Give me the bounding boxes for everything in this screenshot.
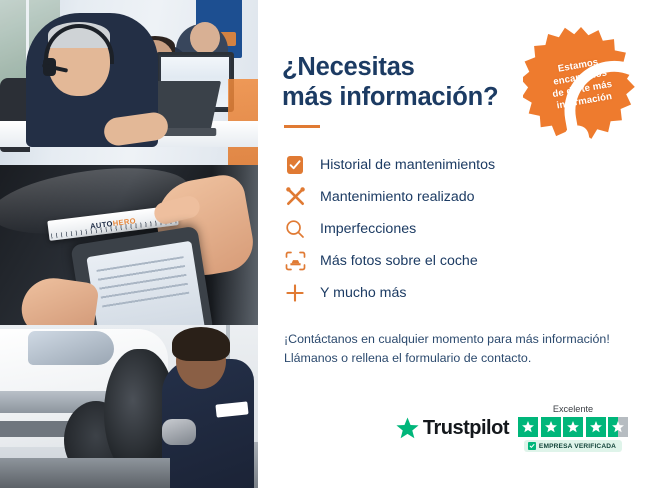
feature-item-imperfections: Imperfecciones	[284, 213, 628, 245]
feature-label: Más fotos sobre el coche	[320, 253, 478, 269]
feature-item-much-more: Y mucho más	[284, 277, 628, 309]
trustpilot-wordmark: Trustpilot	[423, 417, 509, 440]
trustpilot-rating-block: Excelente EMPRESA VERIFICADA	[518, 404, 628, 452]
feature-label: Imperfecciones	[320, 221, 416, 237]
feature-item-maintenance-done: Mantenimiento realizado	[284, 181, 628, 213]
car-headlight	[28, 331, 114, 365]
photo-autohero-ruler-inspection: AUTOHERO	[0, 165, 258, 325]
mechanic-glove	[162, 419, 196, 445]
star-filled	[586, 417, 606, 437]
verified-business-badge: EMPRESA VERIFICADA	[524, 440, 622, 452]
plus-icon	[284, 282, 306, 304]
tablet-screen	[86, 241, 205, 325]
photo-collage: AUTOHERO	[0, 0, 258, 488]
contact-text: ¡Contáctanos en cualquier momento para m…	[284, 330, 628, 368]
feature-label: Y mucho más	[320, 285, 406, 301]
feature-label: Historial de mantenimientos	[320, 157, 495, 173]
background-colleague-2-head	[190, 22, 220, 54]
feature-label: Mantenimiento realizado	[320, 189, 475, 205]
magnifier-icon	[284, 218, 306, 240]
title-underline-rule	[284, 125, 320, 128]
star-half	[608, 417, 628, 437]
verified-business-label: EMPRESA VERIFICADA	[539, 443, 616, 450]
ruler-brand-text: AUTOHERO	[90, 216, 137, 231]
star-filled	[541, 417, 561, 437]
trustpilot-logo: Trustpilot	[395, 416, 509, 441]
car-lift-platform	[0, 458, 170, 488]
verified-check-icon	[528, 442, 536, 450]
help-badge: Estamos encantados de darte más informac…	[523, 25, 639, 141]
star-filled	[563, 417, 583, 437]
car-photo-icon	[284, 250, 306, 272]
trustpilot-star-icon	[395, 416, 420, 441]
promo-card: AUTOHERO ¿Necesitas	[0, 0, 650, 488]
trustpilot-stars	[518, 417, 628, 437]
badge-content: Estamos encantados de darte más informac…	[547, 53, 615, 113]
tools-icon	[284, 186, 306, 208]
mechanic-hair	[172, 327, 230, 361]
checklist-icon	[284, 154, 306, 176]
photo-mechanic-wheel-inspection	[0, 325, 258, 488]
star-filled	[518, 417, 538, 437]
content-panel: ¿Necesitas más información? Estamos enca…	[258, 0, 650, 488]
trustpilot-widget[interactable]: Trustpilot Excelente EMPRESA VERIFICADA	[395, 404, 628, 452]
trustpilot-rating-label: Excelente	[553, 404, 593, 414]
feature-item-more-photos: Más fotos sobre el coche	[284, 245, 628, 277]
photo-call-center-agent-with-headset	[0, 0, 258, 165]
